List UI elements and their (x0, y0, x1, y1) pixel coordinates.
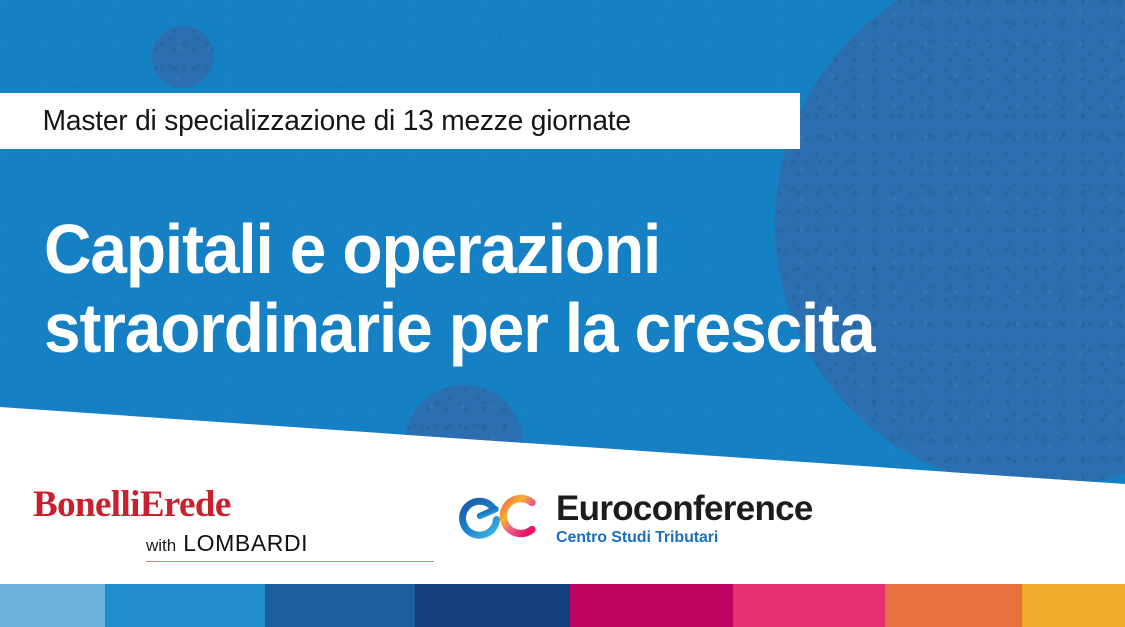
title-line-2: straordinarie per la crescita (44, 289, 946, 368)
title-line-1: Capitali e operazioni (44, 210, 946, 289)
bonellierede-wordmark: BonelliErede (33, 485, 433, 525)
euroconference-name: Euroconference (556, 490, 813, 527)
color-bar-segment-pink (733, 584, 885, 627)
bonellierede-logo: BonelliErede with LOMBARDI (33, 485, 433, 562)
bottom-color-bar (0, 584, 1125, 627)
kicker-text: Master di specializzazione di 13 mezze g… (0, 105, 631, 138)
euroconference-text: Euroconference Centro Studi Tributari (556, 490, 813, 547)
euroconference-tagline: Centro Studi Tributari (556, 528, 813, 547)
euroconference-logo: Euroconference Centro Studi Tributari (458, 488, 813, 549)
promo-banner: Master di specializzazione di 13 mezze g… (0, 0, 1125, 627)
color-bar-segment-amber (1022, 584, 1125, 627)
logo-row: BonelliErede with LOMBARDI (0, 480, 1125, 584)
color-bar-segment-blue (105, 584, 265, 627)
color-bar-segment-navy (415, 584, 570, 627)
bonellierede-with-label: with (146, 536, 176, 556)
circle-texture (152, 26, 214, 88)
bonellierede-partner-line: with LOMBARDI (146, 530, 434, 562)
color-bar-segment-light-blue (0, 584, 105, 627)
kicker-banner: Master di specializzazione di 13 mezze g… (0, 93, 800, 149)
page-title: Capitali e operazioni straordinarie per … (44, 210, 946, 368)
bonellierede-partner-name: LOMBARDI (183, 530, 308, 557)
color-bar-segment-orange (885, 584, 1022, 627)
decorative-circle-small (152, 26, 214, 88)
euroconference-monogram-icon (458, 488, 542, 549)
color-bar-segment-steel-blue (265, 584, 415, 627)
color-bar-segment-magenta (570, 584, 733, 627)
